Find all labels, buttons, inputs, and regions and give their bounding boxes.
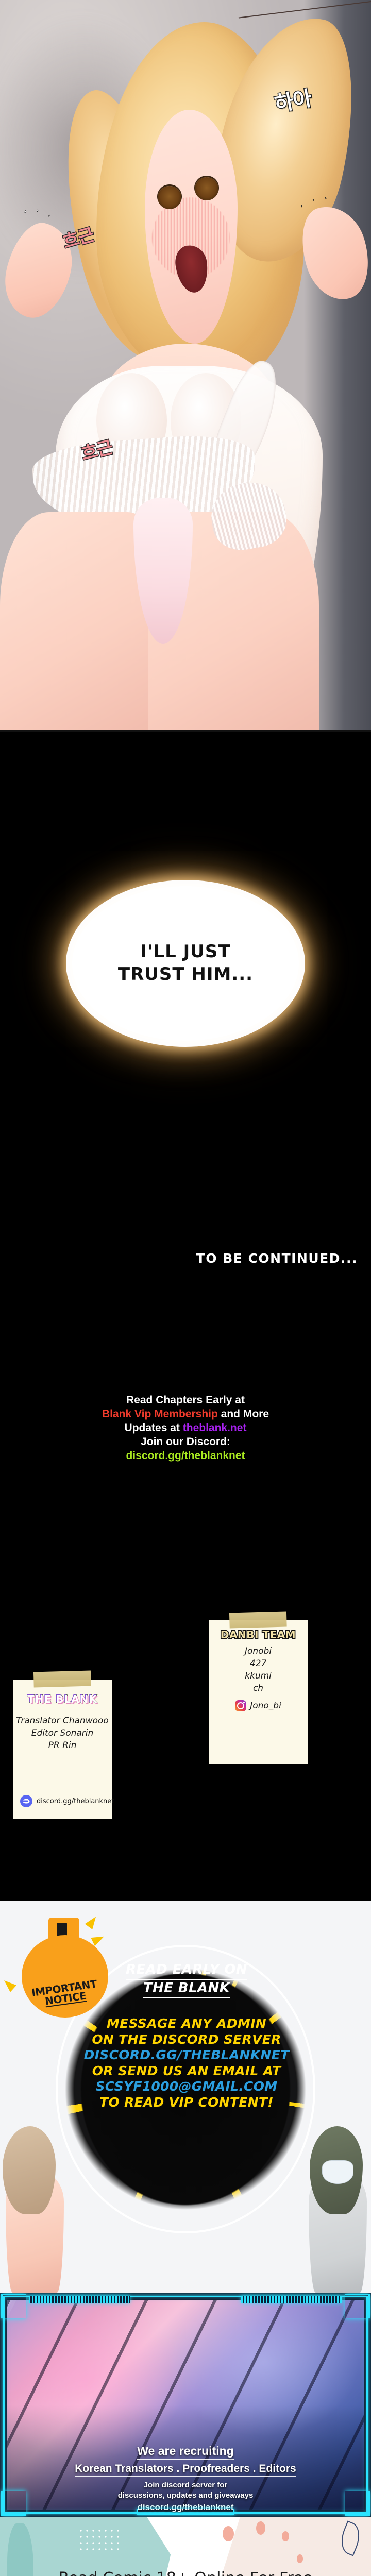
neon-corner-icon bbox=[1, 2491, 26, 2516]
recruiting-sub-2: discussions, updates and giveaways bbox=[52, 2490, 319, 2501]
instagram-handle: Jono_bi bbox=[250, 1701, 281, 1711]
important-notice-banner: IMPORTANT NOTICE READ EARLY ON THE BLANK… bbox=[0, 1901, 371, 2293]
neon-corner-icon bbox=[345, 2491, 370, 2516]
webtoon-chapter-page: 하아 흐근 흐근 I'LL JUST TRUST HIM... TO BE CO… bbox=[0, 0, 371, 2576]
notice-instructions: MESSAGE ANY ADMIN ON THE DISCORD SERVER … bbox=[78, 2016, 295, 2110]
recruiting-sub-1: Join discord server for bbox=[52, 2480, 319, 2490]
promo-line-2-rest: and More bbox=[218, 1408, 269, 1420]
notice-body: READ EARLY ON THE BLANK MESSAGE ANY ADMI… bbox=[78, 1962, 295, 2110]
discord-row[interactable]: discord.gg/theblanknet bbox=[20, 1795, 114, 1807]
tape-strip bbox=[229, 1612, 287, 1629]
danbi-team-card: DANBI TEAM Jonobi 427 kkumi ch Jono_bi bbox=[209, 1620, 308, 1764]
danbi-team-title: DANBI TEAM bbox=[209, 1629, 308, 1641]
side-character-left bbox=[0, 2123, 68, 2293]
credit-translator: Translator Chanwooo bbox=[13, 1715, 112, 1727]
tape-strip bbox=[33, 1671, 91, 1688]
credit-editor: Editor Sonarin bbox=[13, 1727, 112, 1739]
neon-corner-icon bbox=[1, 2294, 26, 2318]
promo-line-3: Updates at theblank.net bbox=[0, 1421, 371, 1435]
notice-heading: READ EARLY ON THE BLANK bbox=[78, 1962, 295, 1998]
notice-line-vip: TO READ VIP CONTENT! bbox=[78, 2095, 295, 2111]
neon-bar-right bbox=[241, 2296, 342, 2303]
recruiting-heading: We are recruiting bbox=[137, 2444, 233, 2460]
neon-bar-left bbox=[29, 2296, 130, 2303]
speech-line-2: TRUST HIM... bbox=[118, 963, 253, 986]
speech-line-1: I'LL JUST bbox=[140, 941, 230, 963]
side-character-right bbox=[303, 2123, 371, 2293]
recruiting-banner: We are recruiting Korean Translators . P… bbox=[0, 2293, 371, 2517]
comic-panel-1: 하아 흐근 흐근 bbox=[0, 0, 371, 732]
notice-discord-link[interactable]: DISCORD.GG/THEBLANKNET bbox=[78, 2047, 295, 2063]
neon-corner-icon bbox=[345, 2294, 370, 2318]
promo-line-1: Read Chapters Early at bbox=[0, 1394, 371, 1408]
danbi-member: Jonobi bbox=[209, 1645, 308, 1657]
instagram-row[interactable]: Jono_bi bbox=[209, 1700, 308, 1711]
promo-line-3-prefix: Updates at bbox=[125, 1422, 183, 1434]
recruiting-text-block: We are recruiting Korean Translators . P… bbox=[52, 2444, 319, 2513]
eye-left bbox=[158, 186, 181, 209]
footer-text-block: Read Comic 18+ Online For Free MANGA18.C… bbox=[0, 2517, 371, 2576]
discord-handle: discord.gg/theblanknet bbox=[37, 1798, 114, 1805]
speech-bubble-text: I'LL JUST TRUST HIM... bbox=[72, 886, 299, 1041]
danbi-member: 427 bbox=[209, 1657, 308, 1670]
credit-pr: PR Rin bbox=[13, 1739, 112, 1752]
notice-line-email-at: OR SEND US AN EMAIL AT bbox=[78, 2063, 295, 2079]
sfx-haa: 하아 bbox=[273, 89, 313, 114]
notice-heading-line-1: READ EARLY ON bbox=[126, 1962, 247, 1980]
the-blank-card: THE BLANK Translator Chanwooo Editor Son… bbox=[13, 1680, 112, 1819]
danbi-member: kkumi bbox=[209, 1670, 308, 1682]
notice-line-discord-server: ON THE DISCORD SERVER bbox=[78, 2032, 295, 2048]
notice-heading-line-2: THE BLANK bbox=[143, 1980, 230, 1999]
eye-right bbox=[195, 177, 218, 200]
notice-line-message-admin: MESSAGE ANY ADMIN bbox=[78, 2016, 295, 2032]
chapter-end-panel: TO BE CONTINUED... Read Chapters Early a… bbox=[0, 1236, 371, 1901]
the-blank-logo: THE BLANK bbox=[13, 1693, 112, 1705]
to-be-continued-text: TO BE CONTINUED... bbox=[196, 1251, 358, 1266]
discord-icon bbox=[20, 1795, 32, 1807]
promo-line-4: Join our Discord: bbox=[0, 1435, 371, 1449]
promo-line-2: Blank Vip Membership and More bbox=[0, 1408, 371, 1421]
danbi-member-list: Jonobi 427 kkumi ch bbox=[209, 1645, 308, 1695]
danbi-member: ch bbox=[209, 1682, 308, 1694]
notice-email-link[interactable]: SCSYF1000@GMAIL.COM bbox=[78, 2079, 295, 2095]
spark-icon bbox=[1, 1977, 16, 1992]
face-mask bbox=[322, 2160, 353, 2184]
footer-tagline: Read Comic 18+ Online For Free bbox=[58, 2569, 312, 2576]
theblank-net-link[interactable]: theblank.net bbox=[183, 1422, 247, 1434]
blank-vip-membership-link[interactable]: Blank Vip Membership bbox=[102, 1408, 218, 1420]
promo-block: Read Chapters Early at Blank Vip Members… bbox=[0, 1394, 371, 1463]
instagram-icon bbox=[235, 1700, 246, 1711]
site-footer-banner: Read Comic 18+ Online For Free MANGA18.C… bbox=[0, 2517, 371, 2576]
neon-bottom-bracket bbox=[137, 2509, 234, 2515]
blank-credits-list: Translator Chanwooo Editor Sonarin PR Ri… bbox=[13, 1715, 112, 1752]
comic-panel-2-speech: I'LL JUST TRUST HIM... bbox=[0, 732, 371, 1298]
discord-invite-link[interactable]: discord.gg/theblanknet bbox=[0, 1449, 371, 1463]
recruiting-roles: Korean Translators . Proofreaders . Edit… bbox=[75, 2463, 296, 2477]
